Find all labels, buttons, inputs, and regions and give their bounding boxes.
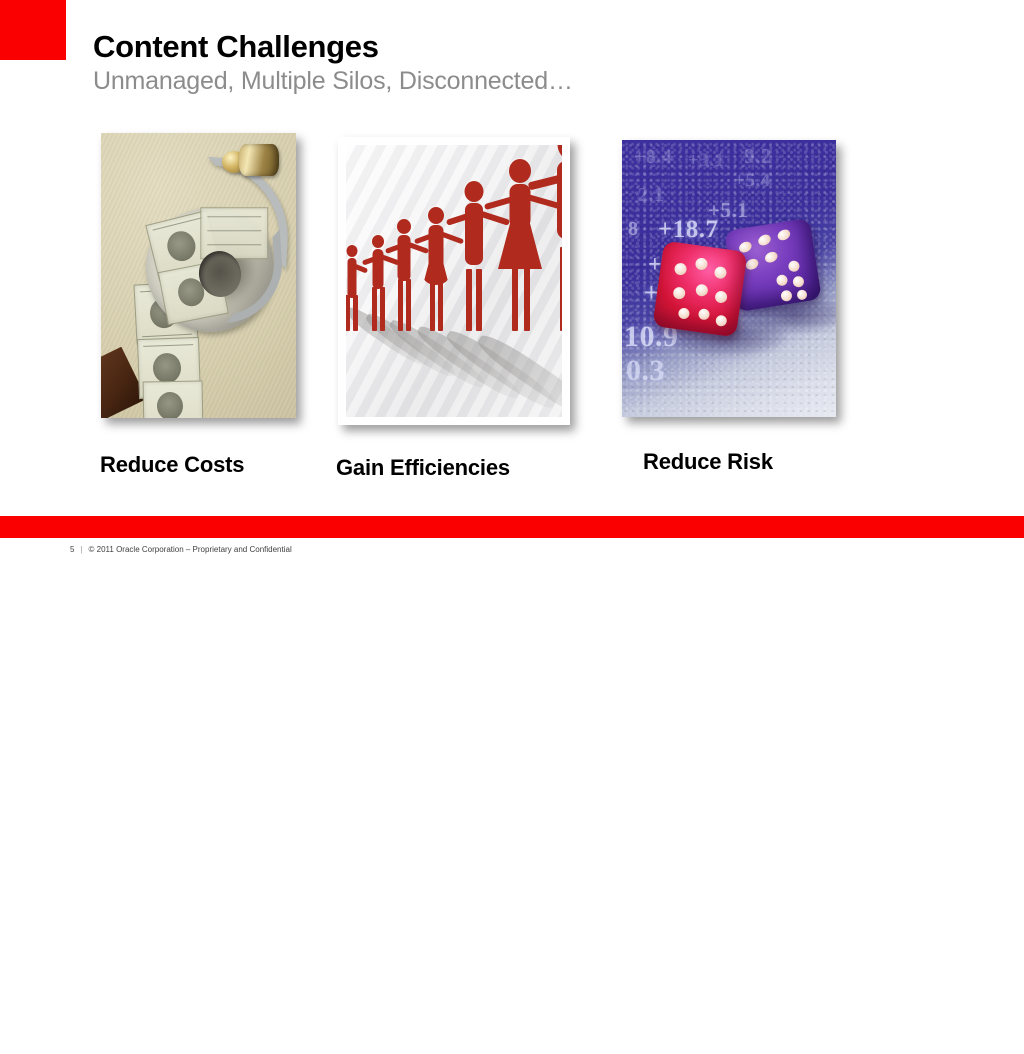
red-corner-accent xyxy=(0,0,66,60)
footer-meta: 5 | © 2011 Oracle Corporation – Propriet… xyxy=(70,545,292,554)
die-red xyxy=(652,241,747,338)
oracle-logo-mark: ® xyxy=(990,1035,996,1044)
image-reduce-risk: +8.4 +3.1 9.2 +5.4 2.1 +5.1 8 +18.7 +9. … xyxy=(622,140,836,417)
dollar-sheet xyxy=(143,380,204,418)
paper-person xyxy=(420,207,452,331)
page-title: Content Challenges xyxy=(93,30,379,64)
image-gain-efficiencies xyxy=(338,137,570,425)
page-number: 5 xyxy=(70,545,74,554)
caption-reduce-risk: Reduce Risk xyxy=(643,449,773,475)
caption-reduce-costs: Reduce Costs xyxy=(100,452,244,478)
paper-person xyxy=(346,245,362,331)
paper-person xyxy=(542,145,562,331)
page-subtitle: Unmanaged, Multiple Silos, Disconnected… xyxy=(93,68,573,96)
paper-person xyxy=(390,219,418,331)
footer-red-bar: ORACLE® xyxy=(0,516,1024,538)
oracle-logo: ORACLE® xyxy=(905,1034,996,1054)
image-reduce-costs xyxy=(101,133,296,418)
footer-divider: | xyxy=(80,545,82,554)
copyright-text: © 2011 Oracle Corporation – Proprietary … xyxy=(89,545,292,554)
holder-wall-plate xyxy=(239,144,279,176)
photo-frame-inner xyxy=(346,145,562,417)
oracle-logo-text: ORACLE xyxy=(905,1034,990,1053)
caption-gain-efficiencies: Gain Efficiencies xyxy=(336,455,510,481)
